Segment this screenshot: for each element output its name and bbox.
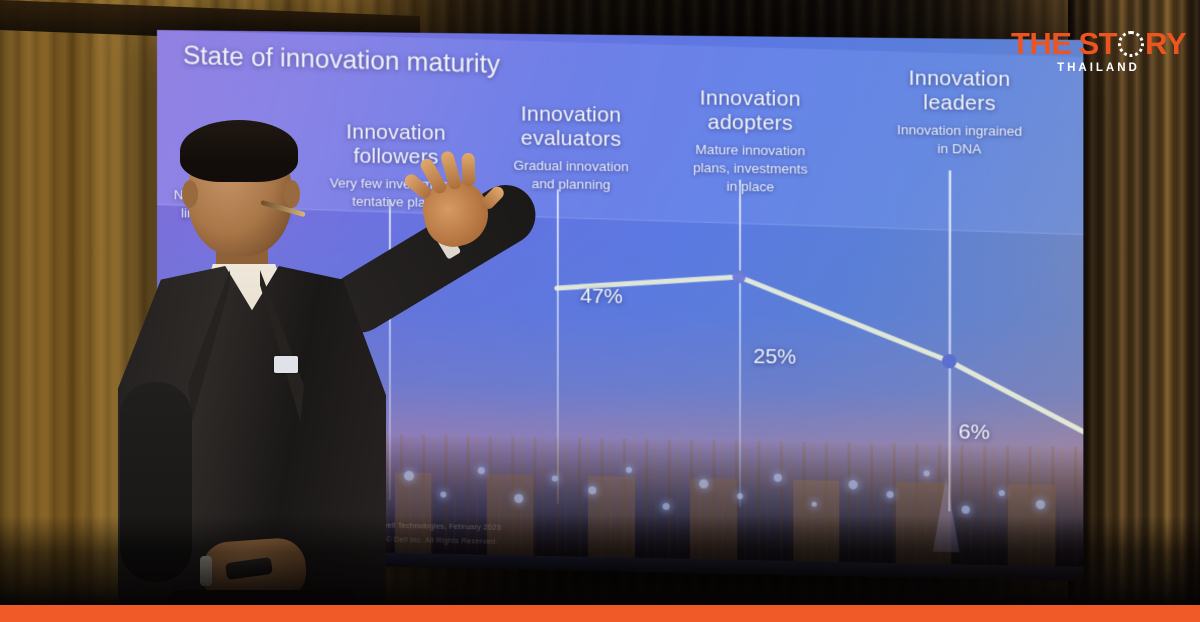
logo-word-st: ST <box>1078 28 1117 59</box>
data-label-47: 47% <box>580 285 623 310</box>
screenshot-stage: State of innovation maturity Innovation … <box>0 0 1200 622</box>
bottom-accent-bar <box>0 605 1200 622</box>
stage-floor-shadow <box>0 516 1200 606</box>
presenter-hair <box>180 120 298 182</box>
dotted-circle-o-icon <box>1118 31 1144 57</box>
logo-tagline: THAILAND <box>1011 62 1186 74</box>
presenter-ear-left <box>182 180 198 208</box>
data-label-25: 25% <box>753 345 796 370</box>
logo-word-ry: RY <box>1145 28 1186 59</box>
presenter-ear-right <box>284 180 300 208</box>
presenter-name-badge <box>274 356 298 373</box>
logo-word-the: THE <box>1011 28 1072 59</box>
data-label-6: 6% <box>958 420 989 445</box>
the-story-thailand-logo[interactable]: THE ST RY THAILAND <box>1011 28 1186 74</box>
